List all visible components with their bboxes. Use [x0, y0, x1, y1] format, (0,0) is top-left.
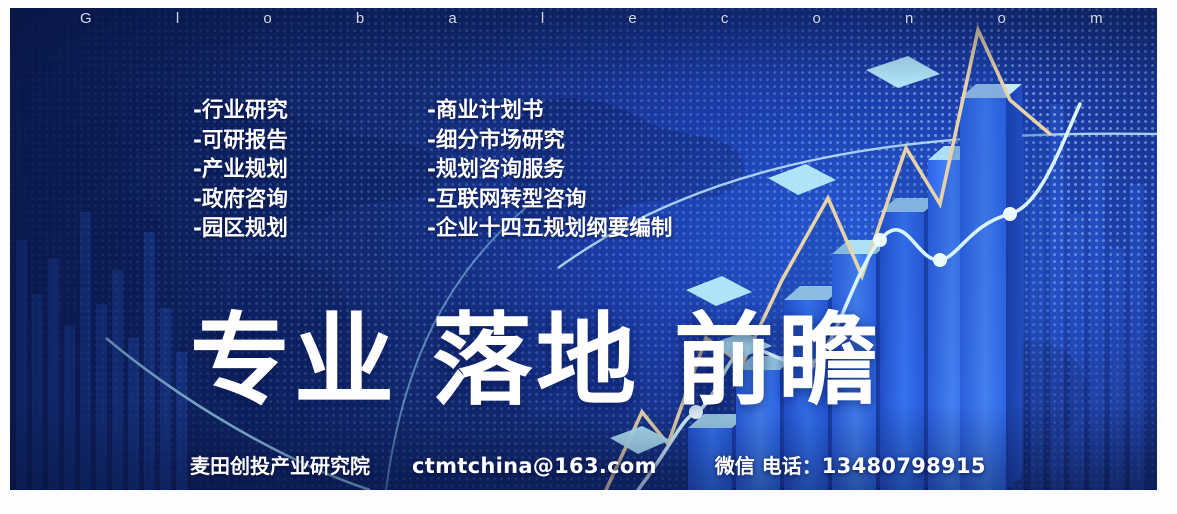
headline-word-1: 专业	[190, 302, 398, 419]
headline: 专业落地前瞻	[190, 308, 882, 413]
services-column-left: -行业研究 -可研报告 -产业规划 -政府咨询 -园区规划	[193, 96, 288, 244]
company-name: 麦田创投产业研究院	[190, 450, 370, 479]
kicker-text: G l o b a l e c o n o m y	[80, 10, 1157, 27]
headline-word-2: 落地	[432, 302, 640, 419]
service-item: -行业研究	[193, 96, 288, 126]
service-item: -企业十四五规划纲要编制	[427, 214, 672, 244]
service-item: -园区规划	[193, 214, 288, 244]
service-item: -商业计划书	[427, 96, 672, 126]
service-item: -政府咨询	[193, 185, 288, 215]
service-item: -互联网转型咨询	[427, 185, 672, 215]
promo-banner: G l o b a l e c o n o m y -行业研究 -可研报告 -产…	[10, 8, 1157, 490]
email-address: ctmtchina@163.com	[412, 454, 657, 478]
service-item: -产业规划	[193, 155, 288, 185]
phone-number: 13480798915	[822, 454, 986, 478]
service-item: -可研报告	[193, 126, 288, 156]
contact-bar: 麦田创投产业研究院ctmtchina@163.com微信 电话：13480798…	[190, 450, 986, 479]
services-column-right: -商业计划书 -细分市场研究 -规划咨询服务 -互联网转型咨询 -企业十四五规划…	[427, 96, 672, 244]
service-item: -细分市场研究	[427, 126, 672, 156]
service-item: -规划咨询服务	[427, 155, 672, 185]
headline-word-3: 前瞻	[674, 302, 882, 419]
wechat-phone-label: 微信 电话：	[715, 450, 822, 479]
